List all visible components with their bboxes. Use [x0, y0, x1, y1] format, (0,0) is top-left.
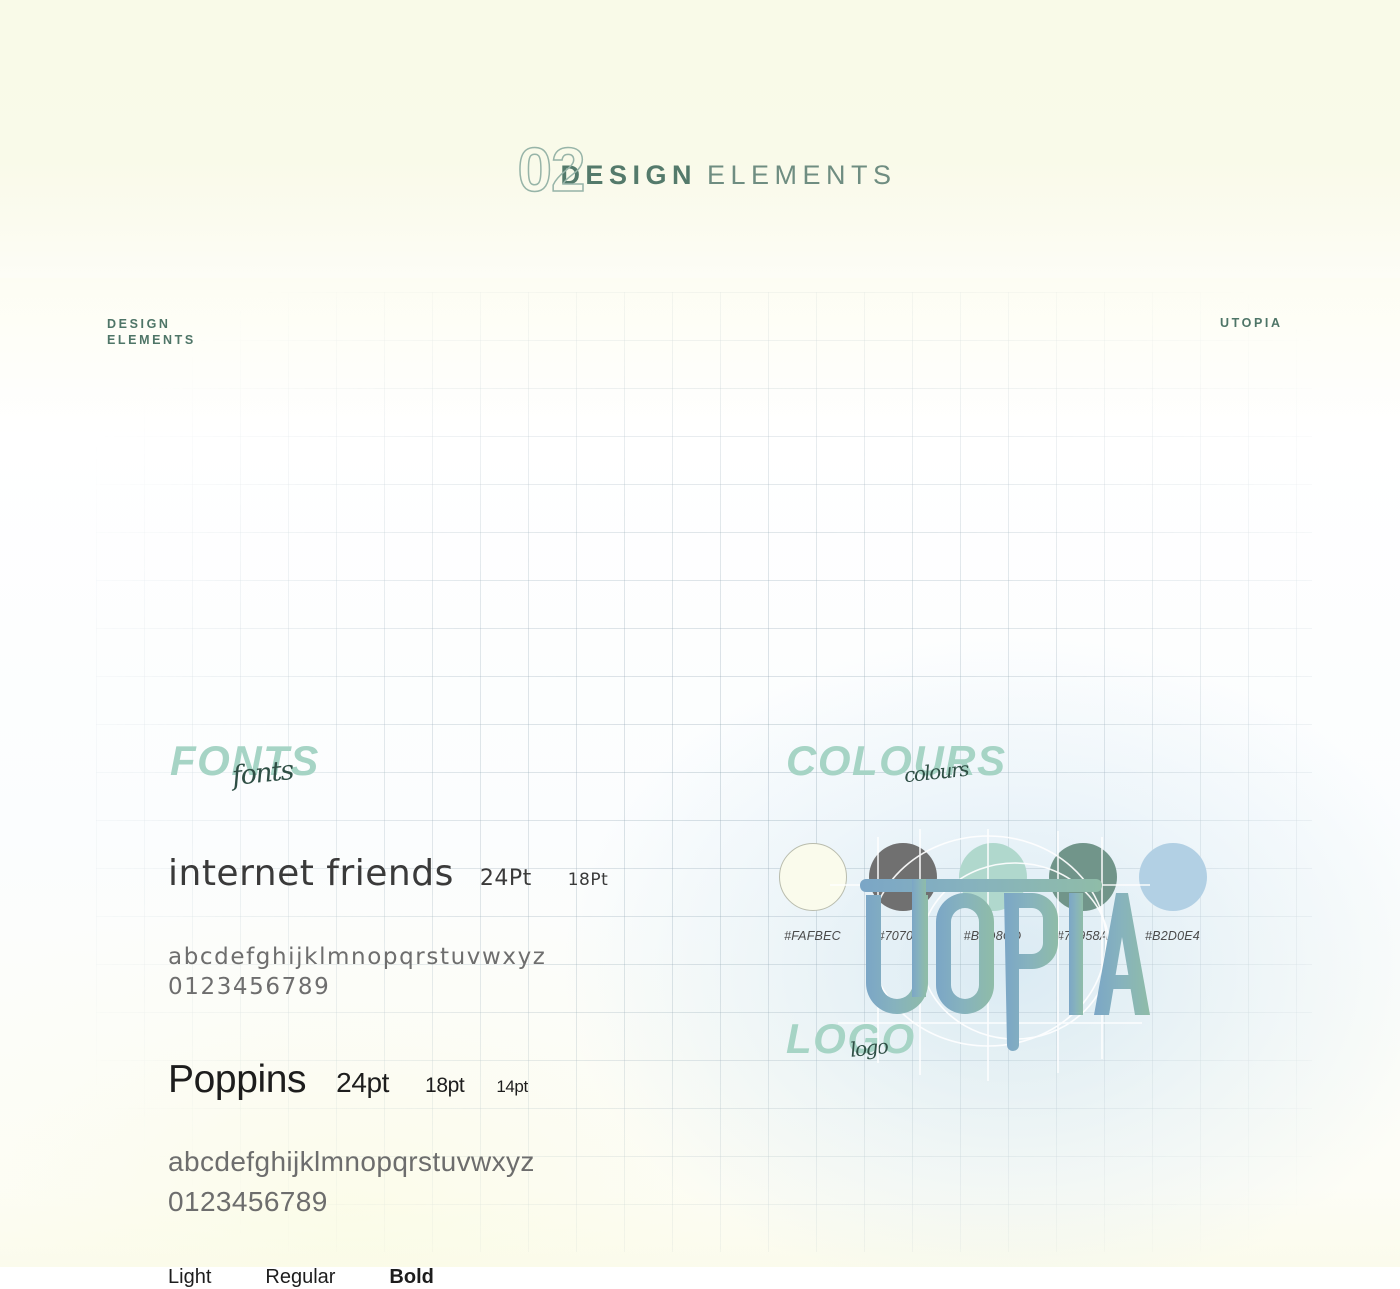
body-font-numerals: 0123456789 [168, 1182, 728, 1222]
logo-wordmark [860, 879, 1150, 1051]
fonts-heading-script: fonts [231, 755, 295, 792]
corner-label-left: DESIGN ELEMENTS [107, 316, 196, 348]
colours-heading-text: COLOURS [786, 740, 1007, 782]
banner-title: 02DESIGNELEMENTS [0, 128, 1400, 199]
display-font-specimen: abcdefghijklmnopqrstuvwxyz 0123456789 [168, 942, 728, 1002]
body-font-specimen: abcdefghijklmnopqrstuvwxyz 0123456789 [168, 1142, 728, 1222]
display-font-size-18: 18Pt [568, 870, 609, 890]
corner-label-left-line2: ELEMENTS [107, 332, 196, 348]
corner-label-brand: UTOPIA [1220, 316, 1283, 330]
banner: 02DESIGNELEMENTS [0, 0, 1400, 278]
logo-construction-svg [820, 823, 1160, 1093]
body-font-name: Poppins [168, 1058, 306, 1102]
display-font-row: internet friends 24Pt 18Pt [168, 853, 728, 894]
corner-label-left-line1: DESIGN [107, 316, 196, 332]
fonts-panel: internet friends 24Pt 18Pt abcdefghijklm… [168, 853, 728, 1289]
section-number: 02 [517, 135, 584, 206]
display-font-name: internet friends [168, 853, 454, 894]
display-font-alphabet: abcdefghijklmnopqrstuvwxyz [168, 942, 728, 972]
weight-regular: Regular [265, 1266, 335, 1289]
weight-light: Light [168, 1266, 211, 1289]
body-font-alphabet: abcdefghijklmnopqrstuvwxyz [168, 1142, 728, 1182]
body-font-size-14: 14pt [496, 1077, 528, 1097]
banner-title-light: ELEMENTS [707, 160, 897, 191]
body-font-row: Poppins 24pt 18pt 14pt [168, 1058, 728, 1102]
weight-bold: Bold [389, 1266, 433, 1289]
content-sheet: DESIGN ELEMENTS UTOPIA FONTS fonts inter… [0, 278, 1400, 1267]
display-font-numerals: 0123456789 [168, 972, 728, 1002]
body-font-size-18: 18pt [425, 1074, 464, 1098]
body-font-weights: Light Regular Bold [168, 1266, 728, 1289]
display-font-size-24: 24Pt [480, 866, 532, 891]
logo-showcase [820, 823, 1160, 1093]
body-font-size-24: 24pt [336, 1067, 389, 1099]
